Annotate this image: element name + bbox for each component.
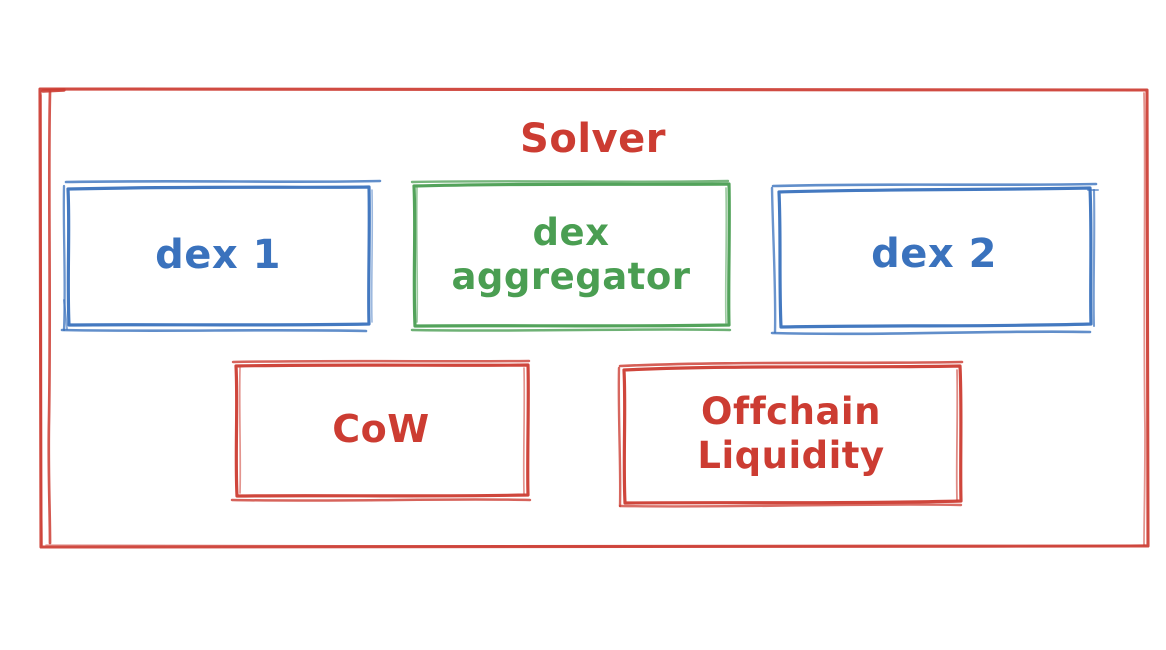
node-label-cow: CoW (233, 363, 529, 496)
node-label-offchain-liquidity: Offchain Liquidity (620, 365, 962, 502)
diagram-canvas: Solver dex 1 dex aggregator dex 2 CoW Of… (0, 0, 1166, 650)
page-title: Solver (38, 108, 1148, 170)
node-label-dex-aggregator: dex aggregator (412, 183, 730, 326)
node-label-dex-1: dex 1 (66, 186, 370, 325)
node-label-dex-2: dex 2 (775, 185, 1093, 325)
